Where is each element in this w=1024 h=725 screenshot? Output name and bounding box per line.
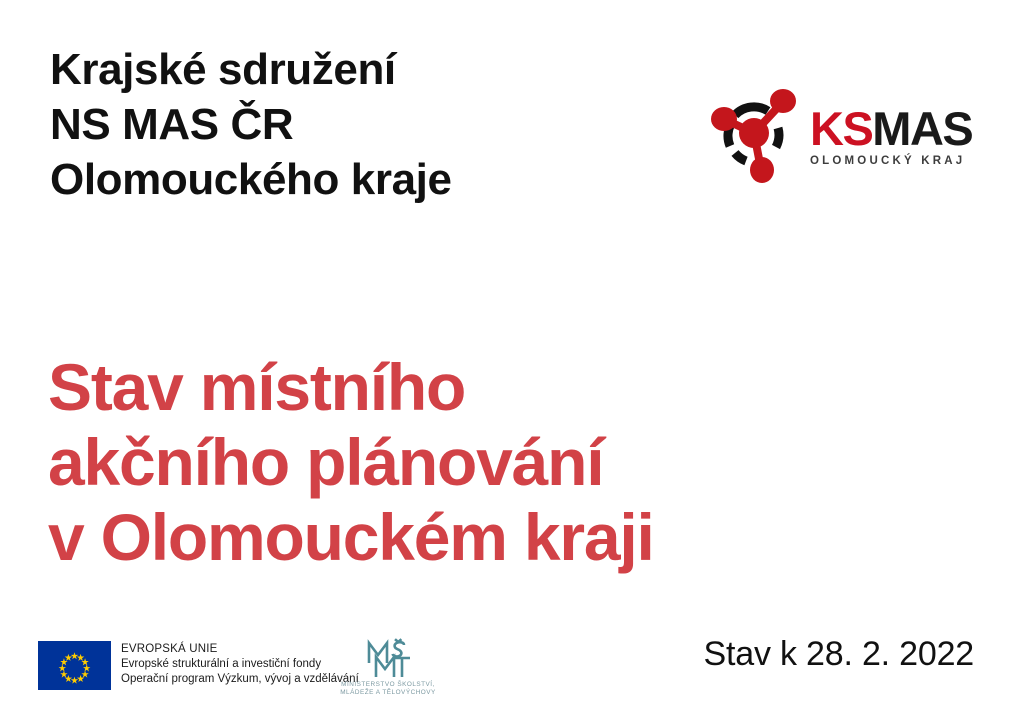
eu-funding-line-2: Evropské strukturální a investiční fondy [121, 657, 359, 672]
network-nodes-icon [702, 84, 806, 184]
msmt-ministry-line-2: MLÁDEŽE A TĚLOVÝCHOVY [332, 689, 444, 697]
organization-heading-line-2: NS MAS ČR [50, 97, 670, 152]
ksmas-wordmark: KSMAS OLOMOUCKÝ KRAJ [810, 100, 972, 168]
ksmas-logo: KSMAS OLOMOUCKÝ KRAJ [702, 82, 994, 186]
msmt-monogram-icon [332, 636, 444, 680]
organization-heading: Krajské sdružení NS MAS ČR Olomouckého k… [50, 42, 670, 207]
ksmas-wordmark-ks: KS [810, 102, 872, 155]
eu-funding-text: EVROPSKÁ UNIE Evropské strukturální a in… [121, 641, 359, 687]
eu-funding-logo: EVROPSKÁ UNIE Evropské strukturální a in… [38, 641, 359, 690]
page-title-line-2: akčního plánování [48, 425, 948, 500]
page-title-line-1: Stav místního [48, 350, 948, 425]
eu-flag-icon [38, 641, 111, 690]
msmt-ministry-logo: MINISTERSTVO ŠKOLSTVÍ, MLÁDEŽE A TĚLOVÝC… [332, 636, 444, 698]
status-date: Stav k 28. 2. 2022 [704, 634, 974, 674]
page-title-line-3: v Olomouckém kraji [48, 500, 948, 575]
eu-funding-line-3: Operační program Výzkum, vývoj a vzděláv… [121, 672, 359, 687]
eu-funding-line-1: EVROPSKÁ UNIE [121, 642, 359, 657]
page-title: Stav místního akčního plánování v Olomou… [48, 350, 948, 575]
title-slide: Krajské sdružení NS MAS ČR Olomouckého k… [0, 0, 1024, 725]
ksmas-wordmark-text: KSMAS [810, 106, 972, 152]
ksmas-tagline: OLOMOUCKÝ KRAJ [810, 156, 972, 168]
msmt-ministry-text: MINISTERSTVO ŠKOLSTVÍ, MLÁDEŽE A TĚLOVÝC… [332, 681, 444, 698]
ksmas-wordmark-mas: MAS [872, 102, 972, 155]
organization-heading-line-1: Krajské sdružení [50, 42, 670, 97]
organization-heading-line-3: Olomouckého kraje [50, 152, 670, 207]
